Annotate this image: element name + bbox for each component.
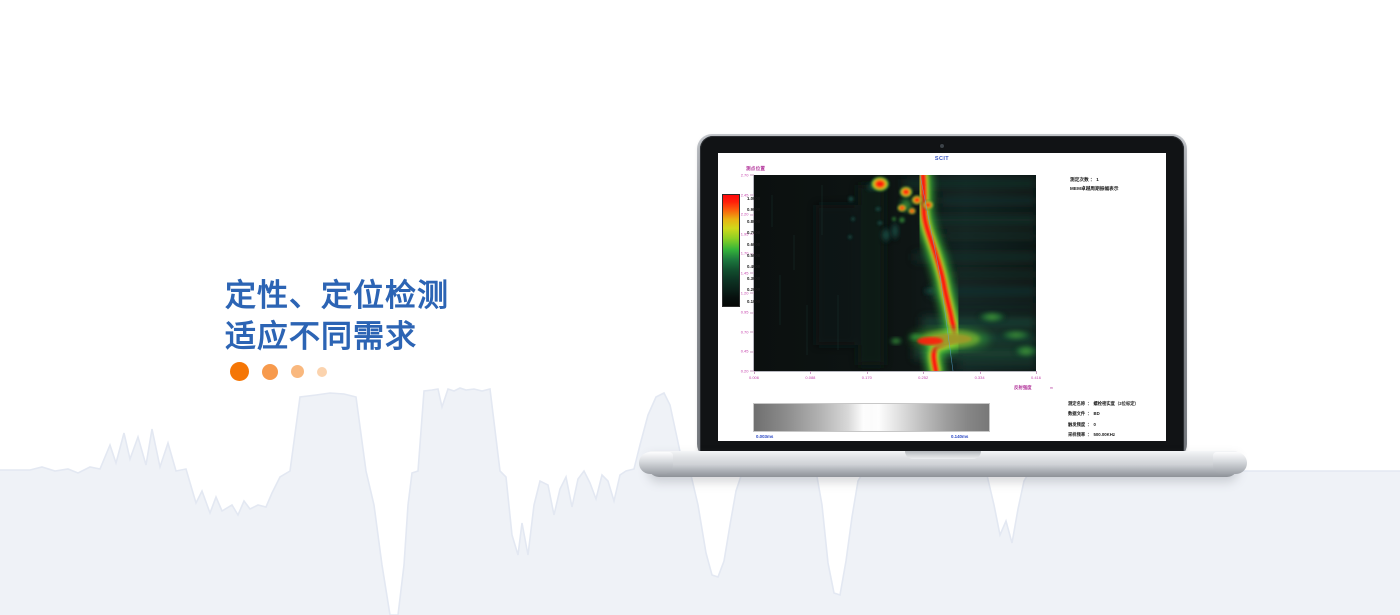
info-row-separator: ： xyxy=(1087,412,1091,416)
x-axis-tick-mark xyxy=(867,371,868,374)
webcam-icon xyxy=(940,144,944,148)
x-axis-unit: m xyxy=(1050,386,1053,390)
x-axis-tick-label: 0.416 xyxy=(1031,375,1041,380)
laptop-screen: SCIT 测点位置 m 2.702.452.201.951.701.451.20… xyxy=(718,153,1166,441)
info-row-separator: ： xyxy=(1087,402,1091,406)
x-axis-tick-label: 0.170 xyxy=(862,375,872,380)
x-axis-ticks: 0.0060.0880.1700.2520.3340.416 xyxy=(754,371,1036,385)
headline-line-2: 适应不同需求 xyxy=(225,316,645,357)
laptop-base-notch xyxy=(905,451,981,459)
colorbar-value-label: 0.1000 xyxy=(747,300,760,304)
measurement-info-panel: 测定名称：螺栓密实度（2位标定）数据文件：BD触发频度：0采样频率：500.00… xyxy=(1068,402,1164,441)
y-axis-tick-label: 0.45 xyxy=(734,349,754,354)
x-axis-tick-mark xyxy=(754,371,755,374)
pagination-dot-3[interactable] xyxy=(291,365,304,378)
heatmap-plot-area xyxy=(754,175,1036,371)
info-row-label: 触发频度 xyxy=(1068,423,1085,427)
colorbar-value-label: 0.3000 xyxy=(747,277,760,281)
info-row-separator: ： xyxy=(1087,423,1091,427)
info-row: 触发频度：0 xyxy=(1068,423,1164,427)
colorbar-value-label: 0.8000 xyxy=(747,220,760,224)
heatmap-canvas xyxy=(754,175,1036,371)
laptop-mockup: SCIT 测点位置 m 2.702.452.201.951.701.451.20… xyxy=(648,136,1238,488)
heatmap-image xyxy=(754,175,1036,371)
headline-block: 定性、定位检测 适应不同需求 xyxy=(225,275,645,357)
laptop-base xyxy=(648,451,1238,477)
scit-application-window: SCIT 测点位置 m 2.702.452.201.951.701.451.20… xyxy=(718,153,1166,441)
pagination-dot-2[interactable] xyxy=(262,364,278,380)
info-row: 采样频率：500.00KHz xyxy=(1068,433,1164,437)
pagination-dot-1-active[interactable] xyxy=(230,362,249,381)
info-row-label: 测定名称 xyxy=(1068,402,1085,406)
x-axis-tick-mark xyxy=(810,371,811,374)
y-axis-caption: 测点位置 xyxy=(746,166,765,172)
legend-mem-amplitude-label: MEM卓越周期振幅表示 xyxy=(1070,186,1162,192)
x-axis-tick-label: 0.088 xyxy=(805,375,815,380)
colorbar-value-label: 0.9000 xyxy=(747,208,760,212)
legend-block: 测定次数 ： 1 MEM卓越周期振幅表示 xyxy=(1070,177,1162,192)
page-title: SCIT xyxy=(718,156,1166,162)
pagination-dot-4[interactable] xyxy=(317,367,327,377)
x-axis-tick-mark xyxy=(923,371,924,374)
x-axis-tick-label: 0.252 xyxy=(918,375,928,380)
info-row-label: 采样频率 xyxy=(1068,433,1085,437)
info-row: 测定名称：螺栓密实度（2位标定） xyxy=(1068,402,1164,406)
headline-line-1: 定性、定位检测 xyxy=(225,275,645,316)
colorbar-value-label: 0.7000 xyxy=(747,231,760,235)
info-row-label: 数据文件 xyxy=(1068,412,1085,416)
carousel-pagination-dots[interactable] xyxy=(230,362,327,381)
x-axis-tick-label: 0.334 xyxy=(975,375,985,380)
colorbar-value-label: 0.5000 xyxy=(747,254,760,258)
x-axis-caption: 反射强度 xyxy=(1014,385,1032,391)
colorbar-tick-labels: 1.00000.90000.80000.70000.60000.50000.40… xyxy=(747,194,760,305)
info-row-value: 500.00KHz xyxy=(1093,433,1115,437)
y-axis-tick-label: 2.70 xyxy=(734,173,754,178)
y-axis-tick-label: 0.95 xyxy=(734,310,754,315)
colorbar-value-label: 0.4000 xyxy=(747,265,760,269)
x-axis-tick-mark xyxy=(1036,371,1037,374)
info-row-value: 0 xyxy=(1093,423,1095,427)
x-axis-tick-mark xyxy=(980,371,981,374)
strip-end-time: 0.140ms xyxy=(951,434,968,439)
strip-start-time: 0.003ms xyxy=(756,434,773,439)
info-row-value: 螺栓密实度（2位标定） xyxy=(1093,402,1138,406)
y-axis-tick-label: 0.20 xyxy=(734,369,754,374)
colorbar-gradient xyxy=(722,194,740,307)
info-row-value: BD xyxy=(1093,412,1099,416)
waveform-grayscale-strip xyxy=(753,403,990,432)
colorbar-value-label: 0.2000 xyxy=(747,288,760,292)
colorbar-value-label: 1.0000 xyxy=(747,197,760,201)
info-row: 数据文件：BD xyxy=(1068,412,1164,416)
colorbar-group: 1.00000.90000.80000.70000.60000.50000.40… xyxy=(722,194,760,307)
info-row-separator: ： xyxy=(1087,433,1091,437)
y-axis-tick-label: 0.70 xyxy=(734,329,754,334)
laptop-lid: SCIT 测点位置 m 2.702.452.201.951.701.451.20… xyxy=(700,136,1184,457)
x-axis-tick-label: 0.006 xyxy=(749,375,759,380)
colorbar-value-label: 0.6000 xyxy=(747,243,760,247)
legend-measure-count: 测定次数 ： 1 xyxy=(1070,177,1162,183)
